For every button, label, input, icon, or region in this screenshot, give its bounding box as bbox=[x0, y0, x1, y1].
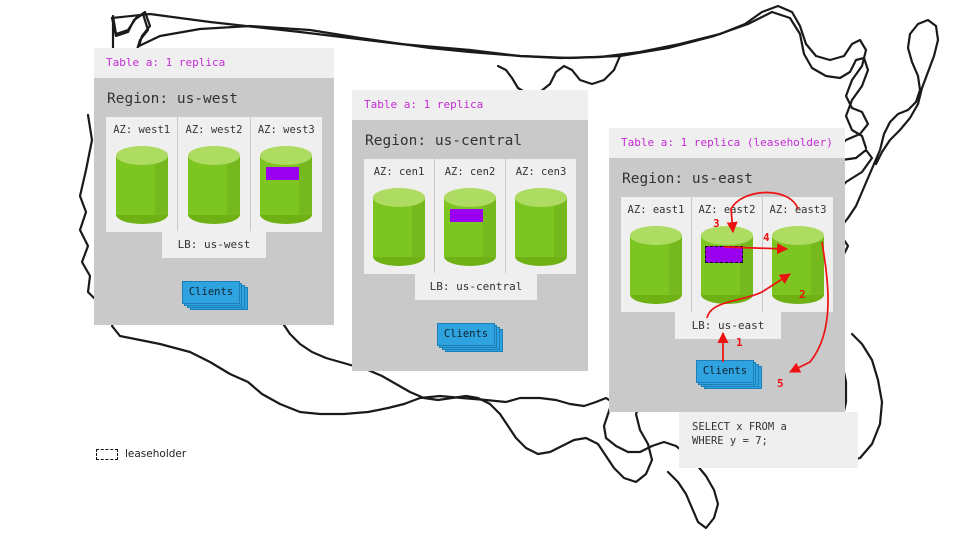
cylinder-shade bbox=[740, 235, 753, 295]
legend: leaseholder bbox=[96, 448, 186, 460]
cylinder-shade bbox=[811, 235, 824, 295]
step-label-4: 4 bbox=[763, 231, 770, 244]
cylinder-shade bbox=[483, 197, 496, 257]
az-label-west3: AZ: west3 bbox=[251, 124, 322, 136]
step-label-5: 5 bbox=[777, 377, 784, 390]
region-title-us-east: Region: us-east bbox=[609, 158, 845, 197]
az-label-west2: AZ: west2 bbox=[178, 124, 249, 136]
node-cylinder-cen1[interactable] bbox=[373, 188, 425, 266]
region-panel-us-central: Table a: 1 replica Region: us-central AZ… bbox=[352, 90, 588, 371]
az-label-cen1: AZ: cen1 bbox=[364, 166, 434, 178]
node-cylinder-east1[interactable] bbox=[630, 226, 682, 304]
az-cell-west2[interactable]: AZ: west2 bbox=[178, 117, 250, 232]
az-label-west1: AZ: west1 bbox=[106, 124, 177, 136]
node-cylinder-east3[interactable] bbox=[772, 226, 824, 304]
az-cell-cen2[interactable]: AZ: cen2 bbox=[435, 159, 506, 274]
cylinder-shade bbox=[299, 155, 312, 215]
replica-range-west3[interactable] bbox=[266, 167, 299, 180]
load-balancer-us-east[interactable]: LB: us-east bbox=[675, 312, 781, 339]
az-row-us-west: AZ: west1 AZ: west2 AZ: west3 bbox=[106, 117, 322, 232]
cylinder-shade bbox=[554, 197, 567, 257]
az-label-east2: AZ: east2 bbox=[692, 204, 762, 216]
legend-label: leaseholder bbox=[125, 448, 186, 460]
az-label-cen3: AZ: cen3 bbox=[506, 166, 576, 178]
panel-header-us-central: Table a: 1 replica bbox=[352, 90, 588, 120]
node-cylinder-cen2[interactable] bbox=[444, 188, 496, 266]
cylinder-top bbox=[515, 188, 567, 207]
az-cell-east1[interactable]: AZ: east1 bbox=[621, 197, 692, 312]
cylinder-top bbox=[444, 188, 496, 207]
region-panel-us-west: Table a: 1 replica Region: us-west AZ: w… bbox=[94, 48, 334, 325]
node-cylinder-west3[interactable] bbox=[260, 146, 312, 224]
node-cylinder-west2[interactable] bbox=[188, 146, 240, 224]
clients-us-west[interactable]: Clients bbox=[182, 281, 244, 306]
node-cylinder-west1[interactable] bbox=[116, 146, 168, 224]
load-balancer-us-central[interactable]: LB: us-central bbox=[415, 273, 537, 300]
az-cell-east3[interactable]: AZ: east3 bbox=[763, 197, 833, 312]
clients-label-us-west: Clients bbox=[182, 281, 240, 304]
az-cell-east2[interactable]: AZ: east2 bbox=[692, 197, 763, 312]
panel-header-us-east: Table a: 1 replica (leaseholder) bbox=[609, 128, 845, 158]
diagram-canvas: Table a: 1 replica Region: us-west AZ: w… bbox=[0, 0, 960, 540]
region-title-us-west: Region: us-west bbox=[94, 78, 334, 117]
panel-header-us-west: Table a: 1 replica bbox=[94, 48, 334, 78]
cylinder-top bbox=[188, 146, 240, 165]
clients-us-east[interactable]: Clients bbox=[696, 360, 758, 385]
load-balancer-us-west[interactable]: LB: us-west bbox=[162, 231, 266, 258]
cylinder-top bbox=[630, 226, 682, 245]
clients-us-central[interactable]: Clients bbox=[437, 323, 499, 348]
replica-range-east2-leaseholder[interactable] bbox=[705, 246, 743, 263]
cylinder-top bbox=[116, 146, 168, 165]
cylinder-shade bbox=[155, 155, 168, 215]
az-cell-cen1[interactable]: AZ: cen1 bbox=[364, 159, 435, 274]
replica-range-cen2[interactable] bbox=[450, 209, 483, 222]
az-cell-west1[interactable]: AZ: west1 bbox=[106, 117, 178, 232]
cylinder-top bbox=[772, 226, 824, 245]
az-label-east3: AZ: east3 bbox=[763, 204, 833, 216]
az-row-us-central: AZ: cen1 AZ: cen2 AZ: bbox=[364, 159, 576, 274]
clients-label-us-east: Clients bbox=[696, 360, 754, 383]
leaseholder-swatch-icon bbox=[96, 449, 118, 460]
region-panel-us-east: Table a: 1 replica (leaseholder) Region:… bbox=[609, 128, 845, 412]
node-cylinder-cen3[interactable] bbox=[515, 188, 567, 266]
cylinder-top bbox=[373, 188, 425, 207]
az-cell-west3[interactable]: AZ: west3 bbox=[251, 117, 322, 232]
cylinder-shade bbox=[669, 235, 682, 295]
cylinder-shade bbox=[227, 155, 240, 215]
region-title-us-central: Region: us-central bbox=[352, 120, 588, 159]
az-label-cen2: AZ: cen2 bbox=[435, 166, 505, 178]
cylinder-top bbox=[260, 146, 312, 165]
clients-label-us-central: Clients bbox=[437, 323, 495, 346]
az-cell-cen3[interactable]: AZ: cen3 bbox=[506, 159, 576, 274]
cylinder-shade bbox=[412, 197, 425, 257]
step-label-1: 1 bbox=[736, 336, 743, 349]
step-label-2: 2 bbox=[799, 288, 806, 301]
node-cylinder-east2[interactable] bbox=[701, 226, 753, 304]
cylinder-top bbox=[701, 226, 753, 245]
step-label-3: 3 bbox=[713, 217, 720, 230]
sql-statement-box: SELECT x FROM a WHERE y = 7; bbox=[679, 412, 858, 468]
az-label-east1: AZ: east1 bbox=[621, 204, 691, 216]
